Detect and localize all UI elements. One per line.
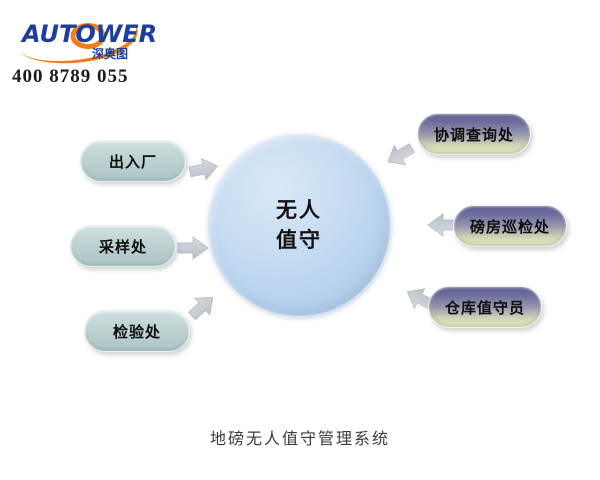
diagram-caption: 地磅无人值守管理系统 (0, 425, 600, 449)
node-inspection-label: 检验处 (113, 321, 161, 342)
node-sampling[interactable]: 采样处 (70, 225, 176, 267)
center-node-unattended[interactable]: 无人 值守 (207, 133, 391, 317)
logo-wordmark: AUTOWER (20, 20, 157, 48)
node-coordination-inquiry-label: 协调查询处 (434, 124, 514, 145)
arrow-coordination-to-center (382, 138, 417, 171)
diagram-canvas: 无人 值守 出入厂 采样处 检验处 协调查询处 磅房巡检处 仓库值守员 (0, 90, 600, 430)
autower-logo-icon: AUTOWER 深奥图 (14, 12, 164, 64)
arrow-entry-exit-to-center (188, 155, 220, 182)
logo-chinese-name: 深奥图 (92, 46, 128, 61)
node-weighroom-inspection-label: 磅房巡检处 (470, 216, 550, 237)
node-warehouse-attendant-label: 仓库值守员 (445, 297, 525, 318)
brand-logo: AUTOWER 深奥图 (14, 12, 164, 64)
center-node-label: 无人 值守 (276, 195, 322, 256)
arrow-sampling-to-center (178, 237, 208, 259)
node-sampling-label: 采样处 (99, 236, 147, 257)
node-entry-exit-label: 出入厂 (109, 151, 157, 172)
node-coordination-inquiry[interactable]: 协调查询处 (417, 113, 531, 155)
phone-number: 400 8789 055 (12, 66, 129, 88)
node-entry-exit[interactable]: 出入厂 (80, 140, 186, 182)
node-warehouse-attendant[interactable]: 仓库值守员 (428, 286, 542, 328)
node-inspection[interactable]: 检验处 (84, 310, 190, 352)
arrow-inspection-to-center (185, 289, 221, 324)
node-weighroom-inspection[interactable]: 磅房巡检处 (453, 205, 567, 247)
